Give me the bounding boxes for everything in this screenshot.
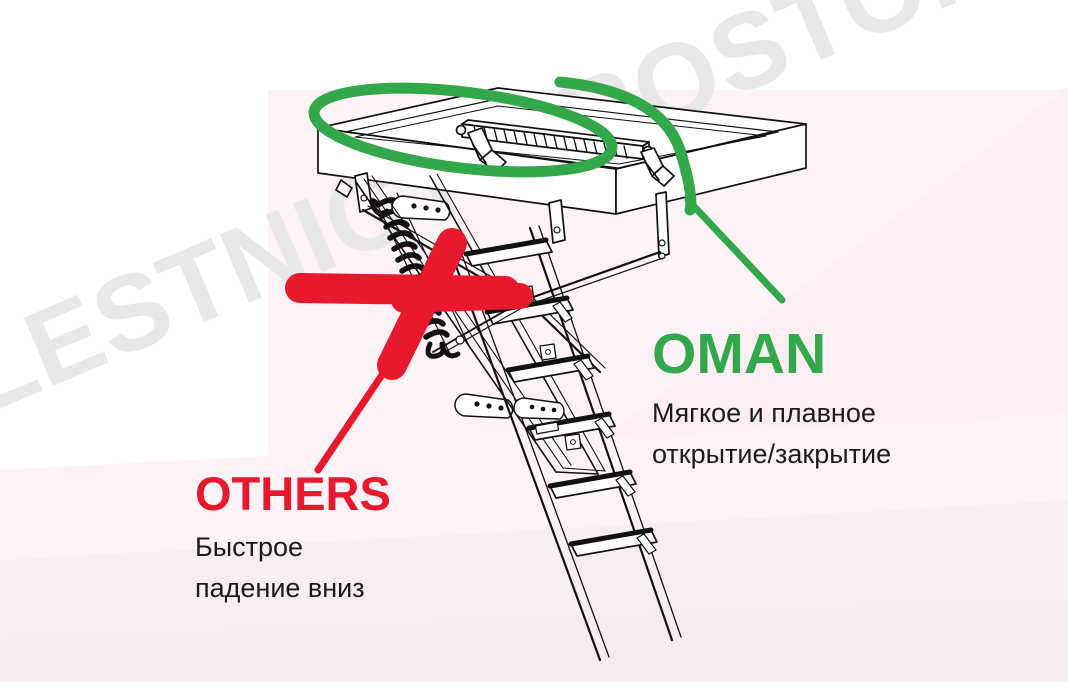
callout-others: OTHERS Быстрое падение вниз: [195, 470, 495, 609]
others-subline-2: падение вниз: [195, 568, 495, 609]
oman-headline: OMAN: [652, 326, 982, 383]
ladder-step: [571, 530, 657, 556]
ladder-step: [550, 472, 636, 498]
others-subline-1: Быстрое: [195, 527, 495, 568]
infographic-canvas: LESTNICY-PROSTO.RU: [0, 0, 1068, 682]
others-headline: OTHERS: [195, 470, 495, 517]
red-leader-line: [318, 360, 392, 470]
green-leader-line: [688, 200, 782, 300]
callout-oman: OMAN Мягкое и плавное открытие/закрытие: [652, 326, 982, 475]
oman-subline-2: открытие/закрытие: [652, 434, 982, 475]
ladder-step: [466, 240, 552, 266]
oman-subline-1: Мягкое и плавное: [652, 393, 982, 434]
